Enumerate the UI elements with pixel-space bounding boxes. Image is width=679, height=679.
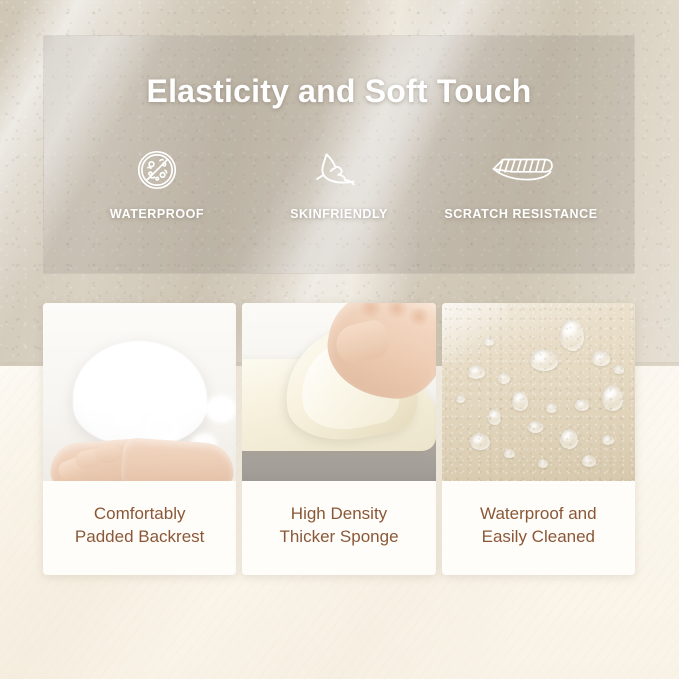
card-caption-padded-backrest: Comfortably Padded Backrest — [43, 481, 236, 575]
card-caption-thicker-sponge: High Density Thicker Sponge — [242, 481, 435, 575]
card-caption-line-2: Padded Backrest — [75, 525, 204, 548]
photo-water-droplets — [442, 303, 635, 481]
feature-card-thicker-sponge: High Density Thicker Sponge — [242, 303, 435, 575]
product-feature-banner: Elasticity and Soft Touch — [0, 0, 679, 679]
feature-item-skinfriendly: SKINFRIENDLY — [248, 142, 430, 221]
card-caption-line-1: High Density — [291, 502, 387, 525]
feature-card-waterproof-cleaned: Waterproof and Easily Cleaned — [442, 303, 635, 575]
photo-foam-sponge — [242, 303, 435, 481]
feature-item-scratch-resistance: SCRATCH RESISTANCE — [430, 142, 612, 221]
feature-label-scratch-resistance: SCRATCH RESISTANCE — [444, 207, 597, 221]
utility-knife-icon — [485, 142, 557, 198]
leather-corner-fold — [442, 303, 514, 364]
feature-card-padded-backrest: Comfortably Padded Backrest — [43, 303, 236, 575]
hand-touch-icon — [309, 142, 369, 198]
card-caption-waterproof-cleaned: Waterproof and Easily Cleaned — [442, 481, 635, 575]
feature-label-waterproof: WATERPROOF — [110, 207, 204, 221]
hands-shape — [46, 415, 234, 481]
card-caption-line-1: Comfortably — [94, 502, 186, 525]
feature-label-skinfriendly: SKINFRIENDLY — [290, 207, 388, 221]
page-title: Elasticity and Soft Touch — [44, 73, 634, 110]
hero-panel: Elasticity and Soft Touch — [43, 35, 635, 274]
feature-item-waterproof: WATERPROOF — [66, 142, 248, 221]
card-caption-line-1: Waterproof and — [480, 502, 597, 525]
feature-card-row: Comfortably Padded Backrest High Density — [43, 303, 635, 575]
card-caption-line-2: Thicker Sponge — [279, 525, 398, 548]
photo-fiber-fill — [43, 303, 236, 481]
card-caption-line-2: Easily Cleaned — [482, 525, 595, 548]
feature-list: WATERPROOF SKINFRIENDLY — [66, 142, 612, 221]
waterproof-no-germs-icon — [134, 142, 180, 198]
